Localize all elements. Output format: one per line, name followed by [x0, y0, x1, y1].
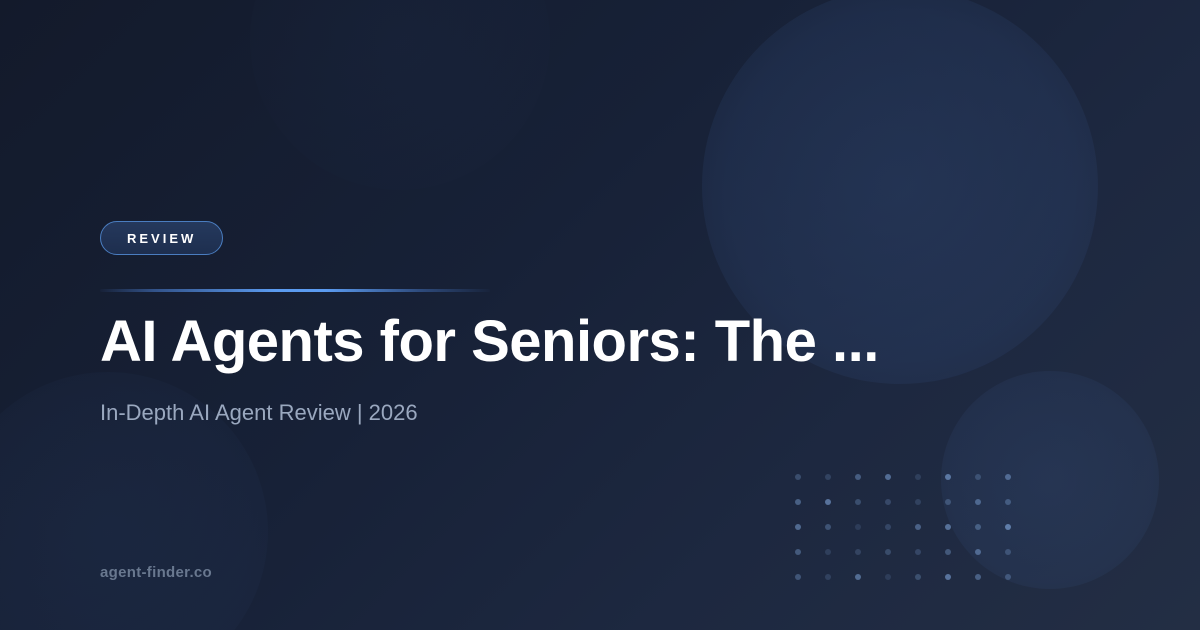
og-social-card: REVIEW AI Agents for Seniors: The ... In… — [0, 0, 1200, 630]
page-title: AI Agents for Seniors: The ... — [100, 311, 1030, 374]
page-subtitle: In-Depth AI Agent Review | 2026 — [100, 399, 418, 428]
review-badge: REVIEW — [100, 221, 223, 255]
card-content: REVIEW AI Agents for Seniors: The ... In… — [100, 0, 1100, 630]
footer-domain: agent-finder.co — [100, 564, 212, 581]
accent-divider — [100, 289, 490, 292]
